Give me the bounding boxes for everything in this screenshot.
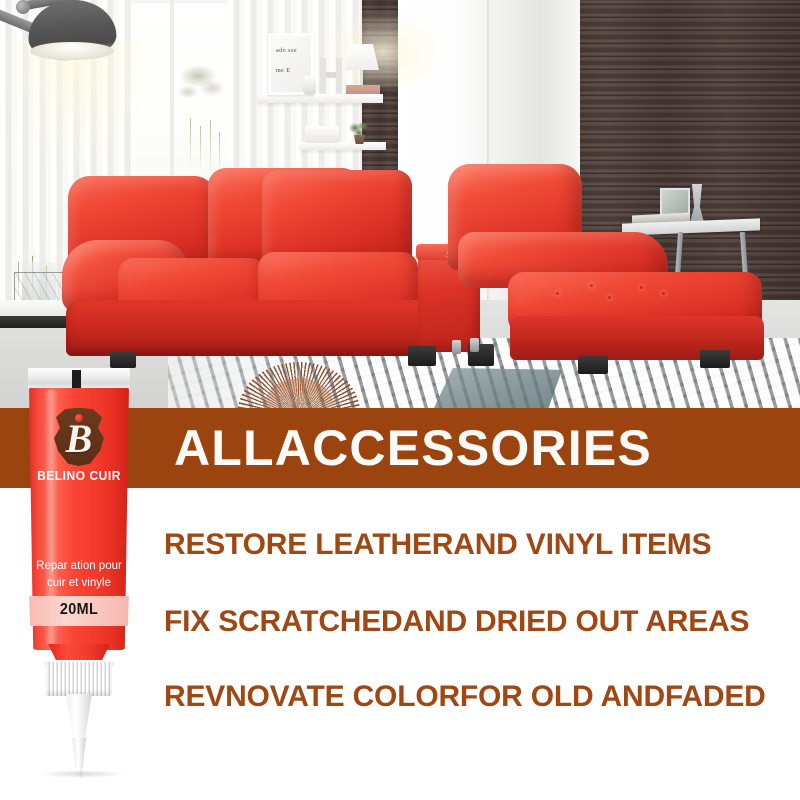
tube-description-line-2: cuir et vinyle [24,575,134,592]
hanging-vine-plant [176,62,228,152]
advertisement-banner: ado sse me E [0,0,800,800]
product-tube: B BELINO CUIR Repar ation pour cuir et v… [18,368,140,778]
tube-description: Repar ation pour cuir et vinyle [24,558,134,592]
framed-art-line-1: ado sse [276,48,297,54]
tube-nozzle [66,694,92,740]
feature-line-2-lead: FIX [164,605,210,638]
wall-shelf-upper [258,94,383,103]
sofa-foot [408,346,436,366]
feature-line-3-lead: REVNOVATE [164,680,344,713]
sofa-foot [578,356,608,374]
feature-line-1: RESTORE LEATHERAND VINYL ITEMS [164,528,711,562]
vine-strand [200,126,201,172]
vine-strand [210,120,211,178]
tube-seal-mark [72,370,81,390]
sofa-foot [110,352,136,368]
feature-line-2: FIX SCRATCHEDAND DRIED OUT AREAS [164,605,749,639]
brand-name: BELINO CUIR [30,468,128,483]
feature-list: RESTORE LEATHERAND VINYL ITEMS FIX SCRAT… [164,495,784,745]
stacked-books [346,85,380,94]
framed-art-line-2: me E [276,68,291,74]
feature-line-3: REVNOVATE COLORFOR OLD ANDFADED [164,680,766,714]
living-room-photo: ado sse me E [0,0,800,415]
console-caster [452,340,461,354]
sofa-foot [700,350,730,368]
feature-line-1-rest: LEATHERAND VINYL ITEMS [307,528,711,561]
plant-pot [354,135,365,144]
vine-strand [219,132,220,172]
decorative-vase [303,76,316,95]
tube-description-line-1: Repar ation pour [24,558,134,575]
tube-cap [46,662,112,696]
tube-shadow [38,770,126,778]
feature-line-1-lead: RESTORE [164,528,307,561]
chaise-tuft-button [662,292,665,295]
lamp-joint [16,0,30,14]
banner-title: ALLACCESSORIES [174,423,652,473]
logo-letter-b: B [54,414,104,464]
potted-plant [348,120,370,144]
console-caster [470,338,479,352]
feature-line-3-rest: COLORFOR OLD ANDFADED [344,680,765,713]
lamp-bulb-opening [30,42,114,60]
sofa-base-left [66,300,436,356]
chaise-tuft-button [556,292,559,295]
chaise-tuft-button [590,284,593,287]
volume-label: 20ML [32,601,126,619]
chaise-tuft-button [640,286,643,289]
feature-line-2-rest: SCRATCHEDAND DRIED OUT AREAS [210,605,749,638]
wall-shelf-lower [300,142,386,150]
white-planter [305,126,339,143]
chaise-tuft-button [608,296,611,299]
letter-h-decor [320,58,342,94]
plant-leaves [348,120,370,136]
vine-strand [190,118,191,170]
